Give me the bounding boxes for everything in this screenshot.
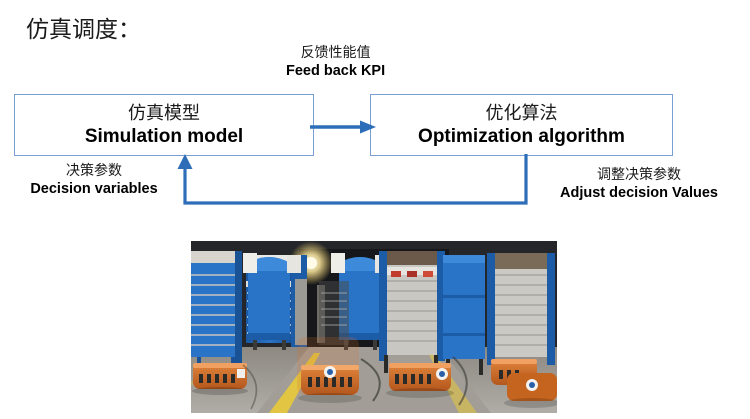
page-title: 仿真调度： <box>26 16 141 44</box>
warehouse-agv-photo-graphic <box>191 241 557 413</box>
agv-robot <box>298 365 362 403</box>
caption-decision-variables-en: Decision variables <box>8 180 180 198</box>
forward-arrow-icon <box>310 118 376 136</box>
box-optimization-algorithm[interactable]: 优化算法 Optimization algorithm <box>370 94 673 156</box>
feedback-loop-arrow-icon <box>176 154 536 212</box>
box-simulation-model[interactable]: 仿真模型 Simulation model <box>14 94 314 156</box>
caption-decision-variables: 决策参数 Decision variables <box>8 163 180 198</box>
warehouse-agv-photo <box>191 241 557 413</box>
agv-robot <box>192 363 248 395</box>
caption-feed-back-kpi-zh: 反馈性能值 <box>286 45 385 62</box>
caption-feed-back-kpi: 反馈性能值 Feed back KPI <box>286 45 385 80</box>
box-optimization-algorithm-zh: 优化算法 <box>486 102 558 125</box>
box-simulation-model-zh: 仿真模型 <box>128 102 200 125</box>
agv-robot <box>504 373 557 408</box>
box-simulation-model-en: Simulation model <box>85 125 243 149</box>
caption-adjust-decision-values-en: Adjust decision Values <box>533 184 745 202</box>
caption-adjust-decision-values-zh: 调整决策参数 <box>533 167 745 184</box>
box-optimization-algorithm-en: Optimization algorithm <box>418 125 625 149</box>
caption-adjust-decision-values: 调整决策参数 Adjust decision Values <box>533 167 745 202</box>
slide-canvas: 仿真调度： 反馈性能值 Feed back KPI 仿真模型 Simulatio… <box>0 0 750 419</box>
caption-decision-variables-zh: 决策参数 <box>8 163 180 180</box>
caption-feed-back-kpi-en: Feed back KPI <box>286 62 385 80</box>
agv-robot <box>386 363 454 398</box>
